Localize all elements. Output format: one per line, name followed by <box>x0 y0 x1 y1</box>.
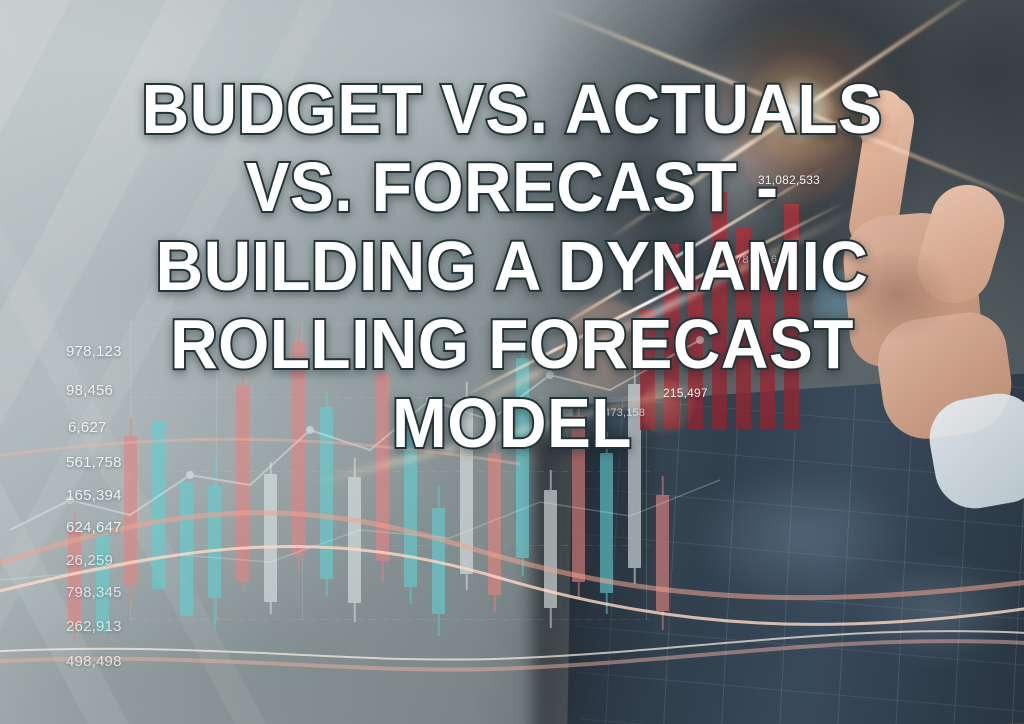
data-label-left-5: 165,394 <box>66 487 122 504</box>
data-label-left-6: 624,647 <box>66 519 122 536</box>
data-label-left-9: 262,913 <box>66 618 122 635</box>
title-line-1: BUDGET VS. ACTUALS <box>74 70 950 148</box>
page-title: BUDGET VS. ACTUALSVS. FORECAST -BUILDING… <box>31 70 994 462</box>
title-line-3: BUILDING A DYNAMIC <box>74 227 950 305</box>
title-line-5: MODEL <box>74 384 950 462</box>
data-label-left-8: 798,345 <box>66 584 122 601</box>
title-line-2: VS. FORECAST - <box>74 148 950 226</box>
data-label-left-7: 26,259 <box>66 552 113 569</box>
title-line-4: ROLLING FORECAST <box>74 305 950 383</box>
data-label-left-10: 498,498 <box>66 653 122 670</box>
hero-banner: 978,12398,4566,627561,758165,394624,6472… <box>0 0 1024 724</box>
